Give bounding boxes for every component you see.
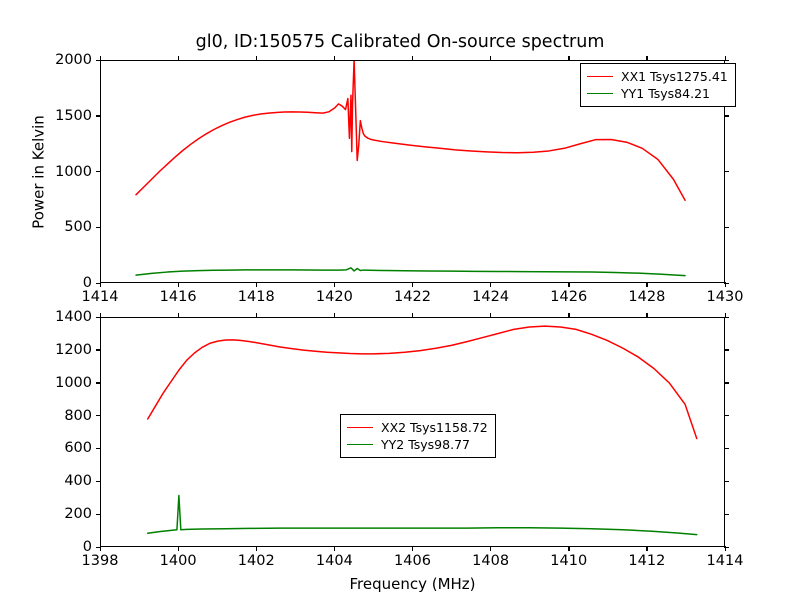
x-tick-mark-top [334,313,335,318]
legend-line-swatch-icon [587,93,613,94]
x-tick-mark [178,546,179,551]
bottom-panel-xlabel: Frequency (MHz) [100,575,725,593]
y-tick-mark [96,514,101,515]
x-tick-mark [646,282,647,287]
x-tick-mark [256,546,257,551]
x-tick-mark-top [490,56,491,61]
legend-label: XX2 Tsys1158.72 [381,421,488,435]
x-tick-mark [334,546,335,551]
legend-line-swatch-icon [347,427,373,428]
x-tick-label: 1418 [238,289,275,305]
y-tick-label: 500 [8,219,92,235]
y-tick-mark [96,349,101,350]
x-tick-mark-top [178,313,179,318]
x-tick-mark-top [178,56,179,61]
top-panel-legend: XX1 Tsys1275.41YY1 Tsys84.21 [580,63,736,107]
y-tick-mark [96,448,101,449]
y-tick-label: 200 [8,506,92,522]
x-tick-mark [334,282,335,287]
y-tick-label: 1500 [8,108,92,124]
bottom-panel-legend: XX2 Tsys1158.72YY2 Tsys98.77 [340,414,496,458]
x-tick-label: 1422 [394,289,431,305]
y-tick-label: 1000 [8,164,92,180]
y-tick-mark-right [724,481,729,482]
x-tick-label: 1412 [628,553,665,569]
legend-line-swatch-icon [587,76,613,77]
y-tick-mark [96,481,101,482]
x-tick-mark [412,282,413,287]
x-tick-label: 1398 [82,553,119,569]
y-tick-label: 400 [8,473,92,489]
y-tick-mark [96,415,101,416]
y-tick-label: 600 [8,440,92,456]
x-tick-label: 1400 [160,553,197,569]
y-tick-mark-right [724,115,729,116]
x-tick-label: 1404 [316,553,353,569]
x-tick-label: 1420 [316,289,353,305]
y-tick-label: 1000 [8,375,92,391]
x-tick-mark-top [568,313,569,318]
legend-label: YY1 Tsys84.21 [621,87,710,101]
series-line-yy1 [136,268,685,276]
x-tick-mark-top [568,56,569,61]
legend-entry: XX1 Tsys1275.41 [587,68,728,85]
y-tick-mark [96,227,101,228]
y-tick-mark-right [724,514,729,515]
x-tick-mark-top [100,313,101,318]
x-tick-mark [490,282,491,287]
figure-title: gl0, ID:150575 Calibrated On-source spec… [0,32,800,52]
x-tick-label: 1414 [82,289,119,305]
x-tick-label: 1414 [707,553,744,569]
y-tick-mark [96,115,101,116]
y-tick-label: 0 [8,275,92,291]
x-tick-mark [256,282,257,287]
x-tick-mark-top [725,56,726,61]
x-tick-label: 1428 [628,289,665,305]
y-tick-label: 800 [8,408,92,424]
legend-entry: YY2 Tsys98.77 [347,436,488,453]
x-tick-mark-top [646,313,647,318]
x-tick-label: 1406 [394,553,431,569]
y-tick-label: 2000 [8,52,92,68]
x-tick-mark [412,546,413,551]
y-tick-mark [96,171,101,172]
x-tick-label: 1424 [472,289,509,305]
x-tick-label: 1408 [472,553,509,569]
x-tick-mark [178,282,179,287]
x-tick-mark-top [412,313,413,318]
y-tick-mark-right [724,171,729,172]
x-tick-mark [490,546,491,551]
y-tick-label: 1200 [8,342,92,358]
matplotlib-figure: gl0, ID:150575 Calibrated On-source spec… [0,0,800,600]
x-tick-label: 1402 [238,553,275,569]
x-tick-mark-top [646,56,647,61]
x-tick-mark-top [256,56,257,61]
legend-line-swatch-icon [347,444,373,445]
x-tick-mark-top [412,56,413,61]
y-tick-mark-right [724,382,729,383]
legend-entry: XX2 Tsys1158.72 [347,419,488,436]
x-tick-mark-top [100,56,101,61]
y-tick-mark-right [724,415,729,416]
y-tick-mark [96,382,101,383]
legend-label: XX1 Tsys1275.41 [621,70,728,84]
x-tick-mark [100,282,101,287]
y-tick-mark-right [724,227,729,228]
x-tick-label: 1410 [550,553,587,569]
x-tick-label: 1430 [707,289,744,305]
x-tick-mark [100,546,101,551]
legend-entry: YY1 Tsys84.21 [587,85,728,102]
x-tick-mark-top [725,313,726,318]
y-tick-mark-right [724,349,729,350]
legend-label: YY2 Tsys98.77 [381,438,470,452]
x-tick-mark [568,282,569,287]
y-tick-label: 1400 [8,309,92,325]
y-tick-label: 0 [8,539,92,555]
x-tick-mark [725,546,726,551]
x-tick-mark [646,546,647,551]
series-line-yy2 [148,496,697,535]
x-tick-label: 1416 [160,289,197,305]
x-tick-mark [568,546,569,551]
x-tick-mark-top [256,313,257,318]
x-tick-mark [725,282,726,287]
x-tick-label: 1426 [550,289,587,305]
y-tick-mark-right [724,448,729,449]
x-tick-mark-top [334,56,335,61]
x-tick-mark-top [490,313,491,318]
